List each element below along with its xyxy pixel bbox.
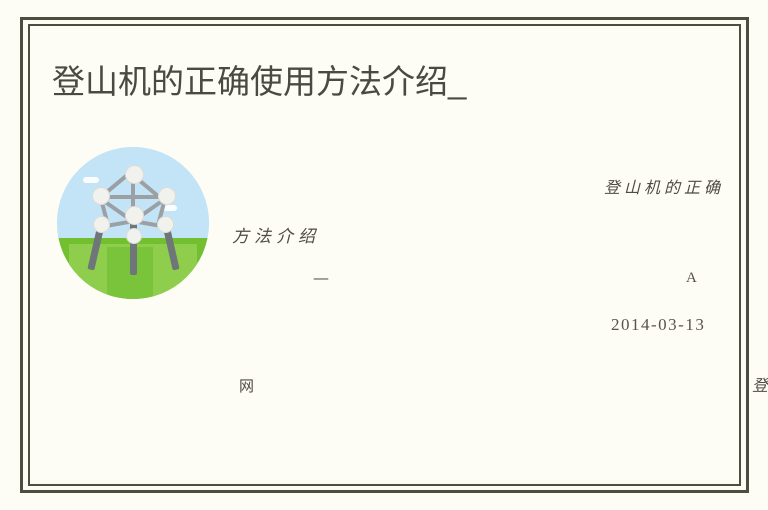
illustration-circle (57, 147, 209, 299)
cloud-icon (83, 177, 99, 183)
structure-node (125, 206, 144, 225)
structure-node (126, 228, 142, 244)
method-label-text: 方法介绍 (232, 222, 320, 247)
bottom-fragment-text: 登 (752, 372, 768, 396)
site-label-text: 网 (239, 375, 254, 396)
structure-node (92, 187, 110, 205)
article-preview-card: 登山机的正确使用方法介绍_ (0, 0, 768, 510)
page-title: 登山机的正确使用方法介绍_ (52, 60, 466, 104)
structure-node (93, 216, 110, 233)
dash-mark: — (313, 268, 329, 287)
date-label: 2014-03-13 (611, 315, 705, 335)
atomium-illustration (57, 147, 209, 299)
author-label: A (686, 270, 697, 287)
headline-fragment-text: 登山机的正确 (604, 174, 724, 198)
structure-node (125, 165, 144, 184)
cloud-icon (163, 205, 177, 211)
structure-node (157, 216, 174, 233)
structure-node (158, 187, 176, 205)
